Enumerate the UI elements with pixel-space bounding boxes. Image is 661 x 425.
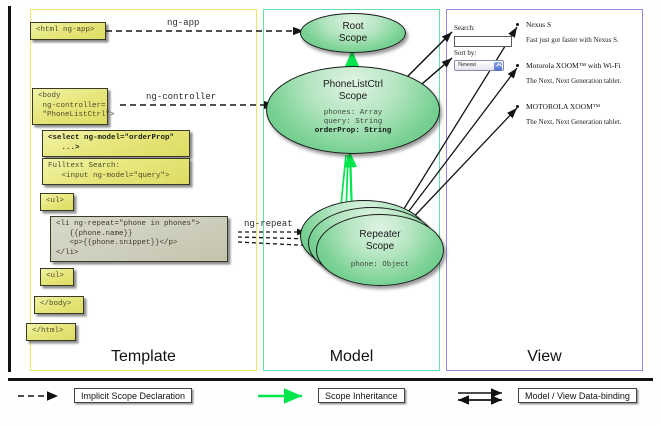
scope-phonelistctrl-title-2: Scope (267, 91, 439, 103)
legend: Implicit Scope Declaration Scope Inherit… (8, 388, 653, 418)
legend-divider-rule (8, 378, 653, 381)
phone-snippet: The Next, Next Generation tablet. (526, 77, 621, 85)
column-template: Template (30, 9, 257, 371)
bullet-icon (516, 105, 519, 108)
column-label-model: Model (264, 348, 439, 366)
scope-repeater: Repeater Scope phone: Object (316, 214, 444, 286)
phone-name: Nexus S (526, 20, 619, 29)
arrow-label-ng-repeat: ng-repeat (244, 219, 293, 229)
scope-phonelistctrl-prop-orderprop: orderProp: String (267, 127, 439, 137)
phone-name: Motorola XOOM™ with Wi-Fi (526, 61, 621, 70)
list-item[interactable]: MOTOROLA XOOM™ The Next, Next Generation… (526, 102, 621, 126)
code-box-input-tag: Fulltext Search: <input ng-model="query"… (42, 158, 190, 185)
code-box-select-tag: <select ng-model="orderProp" ...> (42, 130, 190, 157)
scope-repeater-prop-phone: phone: Object (317, 261, 443, 271)
code-box-body-tag: <body ng-controller= "PhoneListCtrl"> (32, 88, 108, 125)
column-label-template: Template (31, 348, 256, 366)
code-box-body-close: </body> (34, 296, 84, 314)
dashed-arrow-icon (16, 388, 76, 404)
sort-by-select[interactable]: Newest (454, 60, 504, 71)
view-panel-content: Search: Sort by: Newest Nexus S Fast jus… (452, 14, 636, 134)
search-label: Search: (454, 24, 475, 32)
legend-label-scope-inheritance: Scope Inheritance (318, 388, 405, 403)
column-label-view: View (447, 348, 642, 366)
scope-repeater-title-2: Scope (317, 241, 443, 253)
legend-item-model-view-data-binding: Model / View Data-binding (456, 388, 656, 410)
phone-snippet: The Next, Next Generation tablet. (526, 118, 621, 126)
legend-label-implicit-scope-declaration: Implicit Scope Declaration (74, 388, 192, 403)
arrow-label-ng-controller: ng-controller (146, 92, 216, 102)
sort-by-label: Sort by: (454, 49, 476, 57)
column-model: Model (263, 9, 440, 371)
code-box-html-close: </html> (26, 323, 76, 341)
legend-label-model-view-data-binding: Model / View Data-binding (518, 388, 637, 403)
scope-root: Root Scope (300, 13, 406, 53)
double-arrow-icon (456, 387, 520, 405)
legend-item-scope-inheritance: Scope Inheritance (256, 388, 446, 410)
bullet-icon (516, 23, 519, 26)
phone-name: MOTOROLA XOOM™ (526, 102, 621, 111)
arrow-label-ng-app: ng-app (167, 18, 199, 28)
code-box-html-tag: <html ng-app> (30, 22, 106, 40)
bullet-icon (516, 64, 519, 67)
chevron-down-icon (494, 62, 502, 71)
scope-repeater-title-1: Repeater (317, 229, 443, 241)
scope-root-title-2: Scope (301, 33, 405, 45)
code-box-ul-open: <ul> (40, 193, 74, 211)
list-item[interactable]: Motorola XOOM™ with Wi-Fi The Next, Next… (526, 61, 621, 85)
code-box-li-repeat: <li ng-repeat="phone in phones"> {{phone… (50, 216, 228, 262)
scope-phonelistctrl: PhoneListCtrl Scope phones: Array query:… (266, 66, 440, 154)
scope-root-title-1: Root (301, 21, 405, 33)
phone-snippet: Fast just got faster with Nexus S. (526, 36, 619, 44)
diagram-stage: Template Model View (0, 0, 661, 425)
list-item[interactable]: Nexus S Fast just got faster with Nexus … (526, 20, 619, 44)
search-input[interactable] (454, 36, 512, 47)
legend-item-implicit-scope-declaration: Implicit Scope Declaration (16, 388, 256, 410)
scope-phonelistctrl-title-1: PhoneListCtrl (267, 79, 439, 91)
green-arrow-icon (256, 388, 320, 404)
code-box-ul-close: <ul> (40, 268, 74, 286)
sort-by-selected-value: Newest (458, 62, 476, 68)
